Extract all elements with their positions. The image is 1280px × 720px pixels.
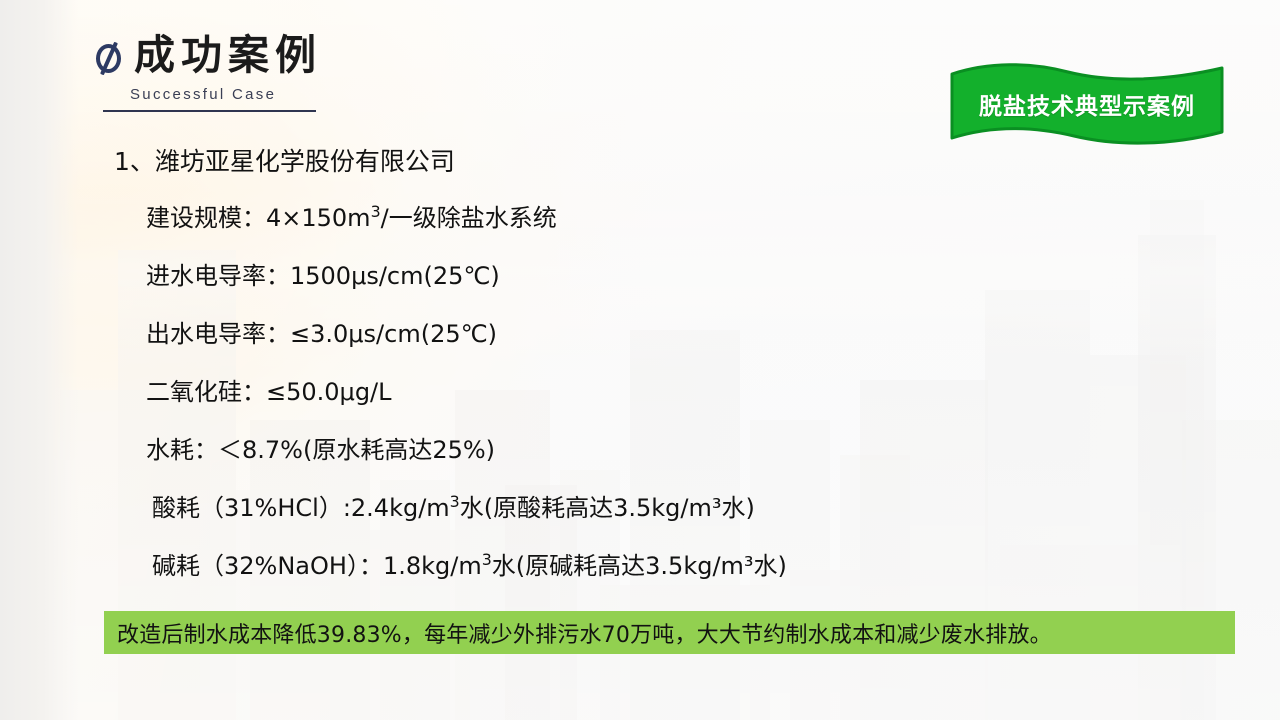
list-item: 酸耗（31%HCl）:2.4kg/m3水(原酸耗高达3.5kg/m³水)	[110, 488, 1010, 523]
list-item: 出水电导率：≤3.0μs/cm(25℃)	[110, 314, 1010, 349]
list-item-text: 进水电导率：1500μs/cm(25℃)	[146, 262, 500, 290]
list-item-lead: 1、潍坊亚星化学股份有限公司	[110, 142, 1010, 178]
background-left-edge	[0, 0, 78, 720]
list-item-text: 水耗：＜8.7%(原水耗高达25%)	[146, 436, 495, 464]
subtitle-block: Successful Case	[92, 86, 322, 112]
slide-canvas: 成功案例 Successful Case 脱盐技术典型示案例 1、潍坊亚星化学股…	[0, 0, 1280, 720]
content-list: 1、潍坊亚星化学股份有限公司 建设规模：4×150m3/一级除盐水系统 进水电导…	[110, 142, 1010, 604]
list-item-sup: 3	[450, 492, 460, 511]
list-item-text: 碱耗（32%NaOH）：1.8kg/m	[152, 552, 482, 580]
list-item-text: 二氧化硅：≤50.0μg/L	[146, 378, 392, 406]
circle-slash-icon	[92, 42, 125, 75]
list-item-text: 出水电导率：≤3.0μs/cm(25℃)	[146, 320, 497, 348]
list-item-text-post: /一级除盐水系统	[381, 204, 557, 232]
list-item: 水耗：＜8.7%(原水耗高达25%)	[110, 430, 1010, 465]
page-subtitle: Successful Case	[130, 86, 322, 103]
summary-highlight-text: 改造后制水成本降低39.83%，每年减少外排污水70万吨，大大节约制水成本和减少…	[104, 617, 1052, 649]
list-item: 进水电导率：1500μs/cm(25℃)	[110, 256, 1010, 291]
list-item-sup: 3	[371, 202, 381, 221]
list-item-sup: 3	[482, 550, 492, 569]
banner-label: 脱盐技术典型示案例	[948, 87, 1226, 121]
section-banner: 脱盐技术典型示案例	[948, 60, 1226, 148]
list-item-text-post: 水(原酸耗高达3.5kg/m³水)	[460, 494, 755, 522]
slide-header: 成功案例 Successful Case	[92, 34, 322, 112]
list-item: 二氧化硅：≤50.0μg/L	[110, 372, 1010, 407]
title-divider	[103, 110, 316, 112]
list-item: 碱耗（32%NaOH）：1.8kg/m3水(原碱耗高达3.5kg/m³水)	[110, 546, 1010, 581]
page-title: 成功案例	[134, 34, 322, 77]
title-row: 成功案例	[92, 34, 322, 77]
list-item-text: 建设规模：4×150m	[146, 204, 371, 232]
summary-highlight-bar: 改造后制水成本降低39.83%，每年减少外排污水70万吨，大大节约制水成本和减少…	[104, 611, 1235, 654]
list-item: 建设规模：4×150m3/一级除盐水系统	[110, 198, 1010, 233]
list-item-text-post: 水(原碱耗高达3.5kg/m³水)	[492, 552, 787, 580]
list-item-text: 酸耗（31%HCl）:2.4kg/m	[152, 494, 450, 522]
